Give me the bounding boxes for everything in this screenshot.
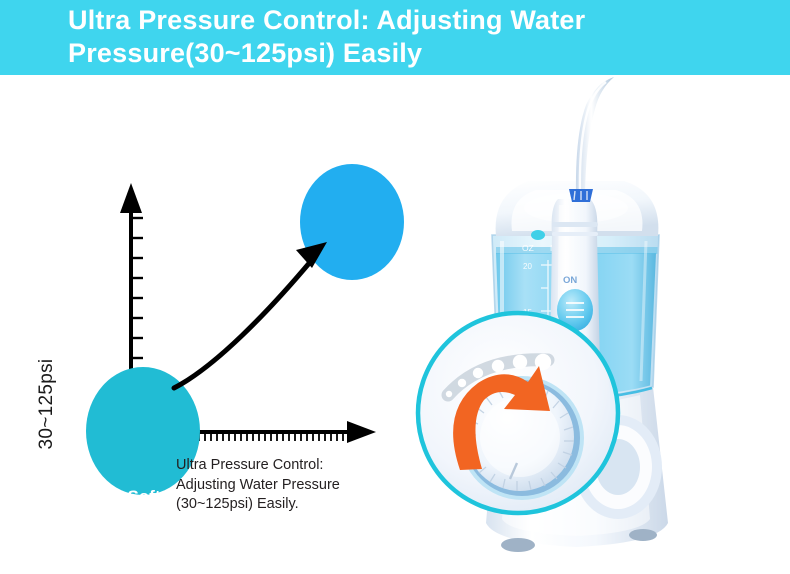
handle-ring-lower (552, 232, 598, 236)
page-title: Ultra Pressure Control: Adjusting Water … (68, 4, 768, 70)
diagram-caption: Ultra Pressure Control: Adjusting Water … (176, 456, 406, 515)
switch-on-label: ON (563, 275, 577, 286)
product-photo: OZ ML 20 15 10 600 400 200 (400, 75, 790, 574)
powerful-bubble (300, 164, 404, 280)
device-foot-left (501, 538, 535, 552)
device-foot-right (629, 529, 657, 541)
pressure-ramp-arrow (174, 261, 311, 388)
lid-release-button (531, 230, 545, 240)
x-axis-arrowhead (347, 421, 376, 443)
header-banner: Ultra Pressure Control: Adjusting Water … (0, 0, 790, 75)
product-infographic-page: Ultra Pressure Control: Adjusting Water … (0, 0, 790, 574)
pressure-diagram: Powerful Soft 30~125psi Ultra Pressure C… (0, 75, 410, 574)
handle-ring-upper (552, 222, 598, 227)
y-axis-label: 30~125psi (36, 334, 58, 474)
water-flosser-illustration: OZ ML 20 15 10 600 400 200 (400, 75, 790, 574)
tank-unit-oz: OZ (522, 243, 534, 253)
tank-mark-oz-20: 20 (523, 262, 532, 271)
y-axis-arrowhead (120, 183, 142, 213)
